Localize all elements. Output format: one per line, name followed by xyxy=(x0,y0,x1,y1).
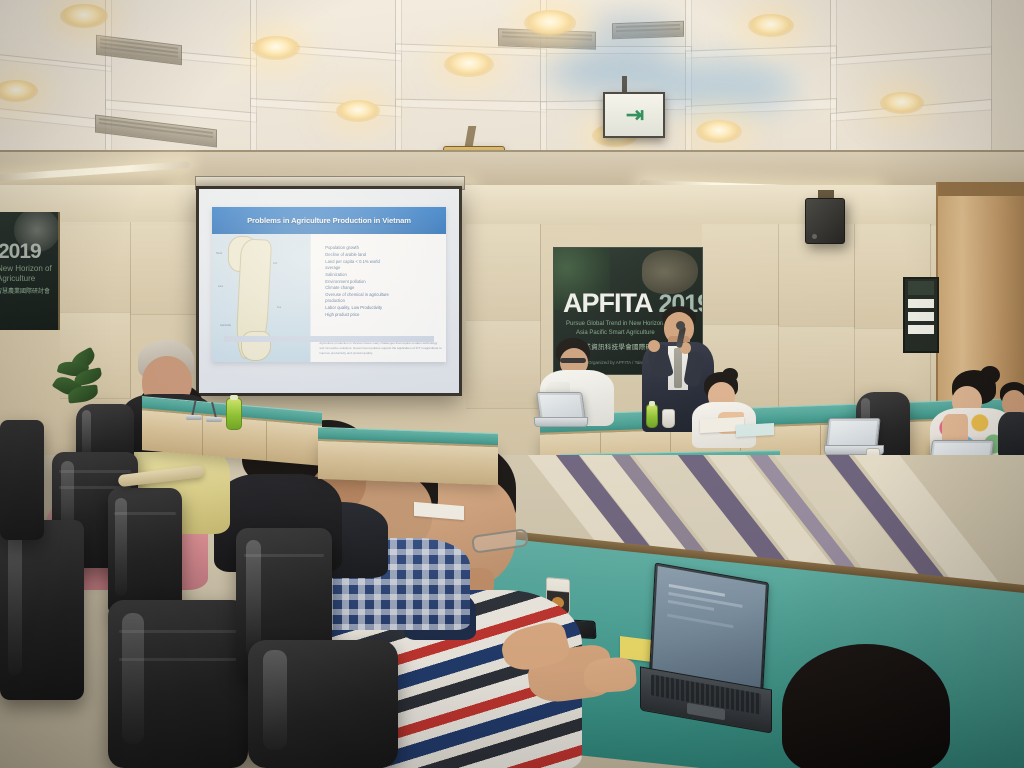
speaker-led xyxy=(812,234,817,239)
slide-title: Problems in Agriculture Production in Vi… xyxy=(247,216,411,225)
person-bottom-right xyxy=(782,644,950,768)
desk-microphone xyxy=(186,400,202,420)
glasses xyxy=(560,358,586,363)
left-poster-year: 2019 xyxy=(0,240,41,264)
ceiling-downlight xyxy=(336,100,380,122)
pillar-cap xyxy=(938,182,1024,196)
laptop-foreground xyxy=(640,572,770,724)
exit-sign-glyph: ⇥ xyxy=(626,102,642,128)
slide-bullet: Land per capita < 0.1% world xyxy=(325,259,436,266)
exit-sign: ⇥ xyxy=(603,92,665,138)
slide-bullet: Salinization xyxy=(325,272,436,279)
slide-bullet: Overuse of chemical in agriculture xyxy=(325,292,436,299)
slide-bullet: Decline of arable land xyxy=(325,252,436,259)
slide-bullet: average xyxy=(325,265,436,272)
ceiling-downlight xyxy=(60,4,108,28)
office-chair xyxy=(108,600,248,768)
slide-vietnam-map: Hanoi Gulf Laos Sea Cambodia xyxy=(212,234,311,363)
green-drink-bottle xyxy=(226,398,242,430)
slide-bullet: Environment pollution xyxy=(325,279,436,286)
ceiling-downlight xyxy=(252,36,300,60)
ceiling-downlight xyxy=(524,10,576,36)
slide-bullet-area: Population growthDecline of arable landL… xyxy=(311,234,446,363)
slide-note: Agriculture production in Vietnam faces … xyxy=(319,341,442,356)
ceiling-downlight xyxy=(444,52,494,77)
ceiling-downlight xyxy=(696,120,742,143)
slide-bullet: Population growth xyxy=(325,245,436,252)
laptop-panel-left xyxy=(534,392,586,426)
office-chair xyxy=(248,640,398,768)
left-poster-chinese: 智慧農業國際研討會 xyxy=(0,286,50,295)
papers-panel xyxy=(736,423,774,437)
projection-screen: Problems in Agriculture Production in Vi… xyxy=(196,186,462,396)
wall-upper-band xyxy=(0,185,1024,225)
ceiling-downlight xyxy=(880,92,924,114)
typing-hand xyxy=(583,656,637,694)
exit-sign-stem xyxy=(622,76,627,92)
ceiling-downlight xyxy=(748,14,794,37)
office-chair xyxy=(0,420,44,540)
water-bottle-panel xyxy=(646,404,658,428)
paper-cup-panel xyxy=(662,409,675,428)
center-desk-front xyxy=(318,439,498,485)
hair-bun xyxy=(722,368,738,382)
conference-room-photo: ⇥ xyxy=(0,0,1024,768)
person-right-edge xyxy=(1000,382,1024,454)
office-chair xyxy=(108,488,182,614)
left-poster-line1: New Horizon of xyxy=(0,264,52,273)
wall-notice-board xyxy=(903,277,939,353)
presentation-slide: Problems in Agriculture Production in Vi… xyxy=(212,207,446,362)
slide-bullet: High product price xyxy=(325,312,436,319)
slide-bullet: Labor quality, Low Productivity xyxy=(325,305,436,312)
hair-bun xyxy=(980,366,1000,384)
slide-title-bar: Problems in Agriculture Production in Vi… xyxy=(212,207,446,233)
left-wall-poster: 2019 New Horizon of Agriculture 智慧農業國際研討… xyxy=(0,212,60,330)
necktie xyxy=(674,348,682,388)
left-poster-line2: Agriculture xyxy=(0,274,35,283)
slide-bullet-list: Population growthDecline of arable landL… xyxy=(325,245,436,318)
wall-speaker xyxy=(805,198,845,244)
slide-bullet: production xyxy=(325,298,436,305)
desk-microphone xyxy=(206,402,222,422)
office-chair xyxy=(0,520,84,700)
slide-bullet: Climate change xyxy=(325,285,436,292)
